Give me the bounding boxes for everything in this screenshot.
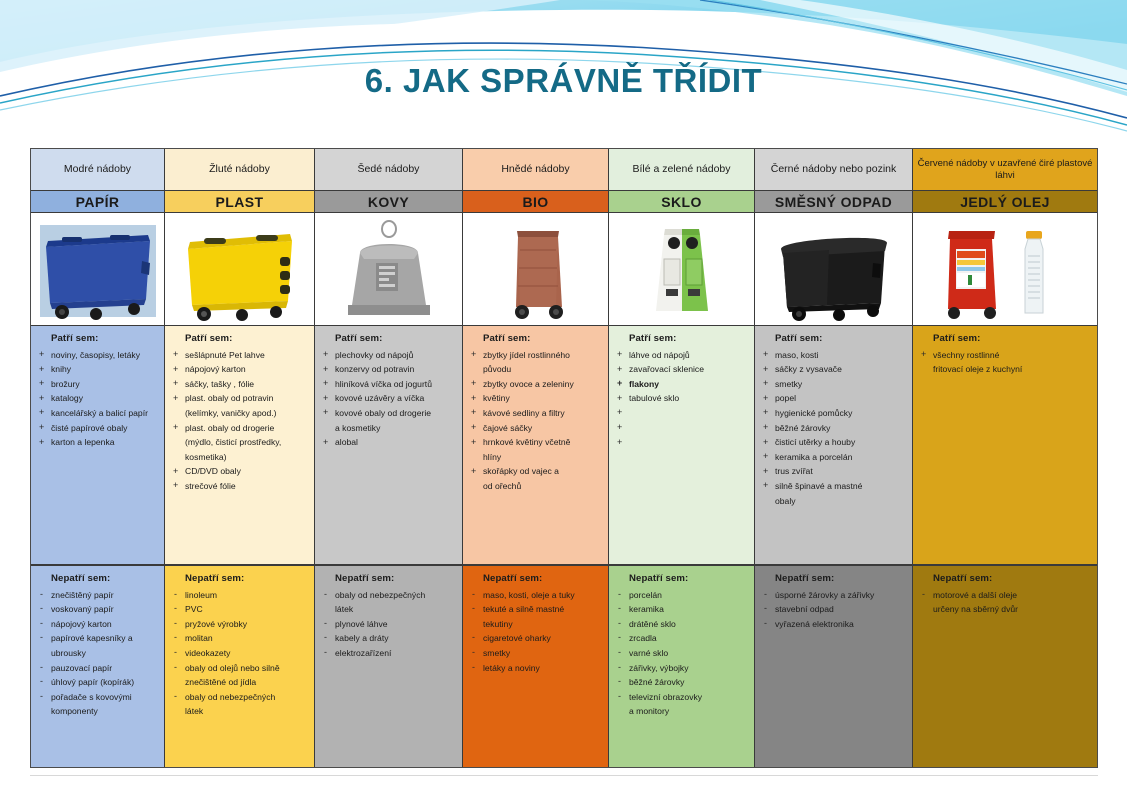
list-item: katalogy [37, 391, 158, 406]
list-item: vyřazená elektronika [761, 617, 906, 632]
list-item: plynové láhve [321, 617, 456, 632]
list-item: kabely a dráty [321, 631, 456, 646]
list-item: pořadače s kovovými komponenty [37, 690, 158, 719]
list-item: sáčky z vysavače [761, 362, 906, 377]
belongs-items-jedly-olej: všechny rostlinné fritovací oleje z kuch… [919, 348, 1091, 377]
list-item: zářivky, výbojky [615, 661, 748, 676]
image-cell-kovy [315, 213, 462, 326]
belongs-heading-smesny-odpad: Patří sem: [761, 332, 906, 347]
list-item: sešlápnuté Pet lahve [171, 348, 308, 363]
not-belongs-list-bio: Nepatří sem: maso, kosti, oleje a tuky t… [463, 566, 608, 767]
list-item: trus zvířat [761, 464, 906, 479]
not-belongs-heading-sklo: Nepatří sem: [615, 572, 748, 587]
slide-banner: 6. JAK SPRÁVNĚ TŘÍDIT [0, 0, 1127, 132]
list-item: láhve od nápojů [615, 348, 748, 363]
page-title: 6. JAK SPRÁVNĚ TŘÍDIT [0, 62, 1127, 100]
list-item: brožury [37, 377, 158, 392]
list-item: běžné žárovky [615, 675, 748, 690]
list-item: alobal [321, 435, 456, 450]
not-belongs-items-kovy: obaly od nebezpečných látek plynové láhv… [321, 588, 456, 661]
belongs-list-kovy: Patří sem: plechovky od nápojů konzervy … [315, 326, 462, 566]
belongs-heading-sklo: Patří sem: [615, 332, 748, 347]
not-belongs-list-jedly-olej: Nepatří sem: motorové a další oleje urče… [913, 566, 1097, 767]
not-belongs-items-sklo: porcelán keramika drátěné sklo zrcadla v… [615, 588, 748, 719]
brown-bio-container-icon [496, 219, 576, 323]
category-papir: PAPÍR [31, 191, 164, 213]
list-item: papírové kapesníky a ubrousky [37, 631, 158, 660]
list-item: čisté papírové obaly [37, 421, 158, 436]
belongs-heading-papir: Patří sem: [37, 332, 158, 347]
belongs-items-kovy: plechovky od nápojů konzervy od potravin… [321, 348, 456, 450]
list-item: silně špinavé a mastné obaly [761, 479, 906, 508]
list-item: noviny, časopisy, letáky [37, 348, 158, 363]
belongs-heading-plast: Patří sem: [171, 332, 308, 347]
list-item: voskovaný papír [37, 602, 158, 617]
list-item: linoleum [171, 588, 308, 603]
list-item: porcelán [615, 588, 748, 603]
not-belongs-heading-bio: Nepatří sem: [469, 572, 602, 587]
list-item: úhlový papír (kopírák) [37, 675, 158, 690]
not-belongs-items-papir: znečištěný papír voskovaný papír nápojov… [37, 588, 158, 719]
not-belongs-heading-smesny-odpad: Nepatří sem: [761, 572, 906, 587]
list-item: čajové sáčky [469, 421, 602, 436]
bin-name-plast: Žluté nádoby [165, 149, 314, 191]
list-item: znečištěný papír [37, 588, 158, 603]
blue-paper-container-icon [38, 219, 158, 323]
list-item: obaly od olejů nebo silně znečištěné od … [171, 661, 308, 690]
list-item: keramika a porcelán [761, 450, 906, 465]
list-item: hygienické pomůcky [761, 406, 906, 421]
list-item: zbytky ovoce a zeleniny [469, 377, 602, 392]
column-smesny-odpad: Černé nádoby nebo pozink SMĚSNÝ ODPAD Pa… [755, 149, 913, 767]
list-item: obaly od nebezpečných látek [171, 690, 308, 719]
list-item: sáčky, tašky , fólie [171, 377, 308, 392]
belongs-list-bio: Patří sem: zbytky jídel rostlinného půvo… [463, 326, 608, 566]
list-item: květiny [469, 391, 602, 406]
list-item: karton a lepenka [37, 435, 158, 450]
list-item: televizní obrazovky a monitory [615, 690, 748, 719]
belongs-items-sklo: láhve od nápojů zavařovací sklenice flak… [615, 348, 748, 450]
yellow-plastic-container-icon [176, 219, 304, 323]
list-item: tabulové sklo [615, 391, 748, 406]
category-sklo: SKLO [609, 191, 754, 213]
not-belongs-list-kovy: Nepatří sem: obaly od nebezpečných látek… [315, 566, 462, 767]
category-smesny-odpad: SMĚSNÝ ODPAD [755, 191, 912, 213]
list-item: maso, kosti, oleje a tuky [469, 588, 602, 603]
grey-metal-container-icon [334, 219, 444, 323]
belongs-list-papir: Patří sem: noviny, časopisy, letáky knih… [31, 326, 164, 566]
bottom-divider [30, 775, 1098, 776]
bin-name-kovy: Šedé nádoby [315, 149, 462, 191]
not-belongs-heading-jedly-olej: Nepatří sem: [919, 572, 1091, 587]
list-item: nápojový karton [171, 362, 308, 377]
image-cell-smesny-odpad [755, 213, 912, 326]
not-belongs-list-plast: Nepatří sem: linoleum PVC pryžové výrobk… [165, 566, 314, 767]
belongs-items-papir: noviny, časopisy, letáky knihy brožury k… [37, 348, 158, 450]
column-papir: Modré nádoby PAPÍR Patří sem: noviny, ča… [31, 149, 165, 767]
not-belongs-heading-papir: Nepatří sem: [37, 572, 158, 587]
list-item: molitan [171, 631, 308, 646]
belongs-list-sklo: Patří sem: láhve od nápojů zavařovací sk… [609, 326, 754, 566]
belongs-items-smesny-odpad: maso, kosti sáčky z vysavače smetky pope… [761, 348, 906, 509]
not-belongs-items-jedly-olej: motorové a další oleje určeny na sběrný … [919, 588, 1091, 617]
list-item: plechovky od nápojů [321, 348, 456, 363]
white-green-glass-container-icon [634, 219, 730, 323]
list-item: plast. obaly od potravin (kelímky, vanič… [171, 391, 308, 420]
list-item [615, 435, 748, 450]
not-belongs-list-sklo: Nepatří sem: porcelán keramika drátěné s… [609, 566, 754, 767]
not-belongs-items-plast: linoleum PVC pryžové výrobky molitan vid… [171, 588, 308, 719]
column-bio: Hnědé nádoby BIO Patří sem: zbytky jídel… [463, 149, 609, 767]
list-item: tekuté a silně mastné tekutiny [469, 602, 602, 631]
column-kovy: Šedé nádoby KOVY Patří sem: plechovky od… [315, 149, 463, 767]
belongs-list-jedly-olej: Patří sem: všechny rostlinné fritovací o… [913, 326, 1097, 566]
list-item: maso, kosti [761, 348, 906, 363]
list-item [615, 406, 748, 421]
list-item: kávové sedliny a filtry [469, 406, 602, 421]
list-item: kovové obaly od drogerie a kosmetiky [321, 406, 456, 435]
bin-name-bio: Hnědé nádoby [463, 149, 608, 191]
category-plast: PLAST [165, 191, 314, 213]
list-item: smetky [761, 377, 906, 392]
belongs-heading-kovy: Patří sem: [321, 332, 456, 347]
belongs-list-smesny-odpad: Patří sem: maso, kosti sáčky z vysavače … [755, 326, 912, 566]
column-plast: Žluté nádoby PLAST Patří sem: sešlápnu [165, 149, 315, 767]
category-kovy: KOVY [315, 191, 462, 213]
list-item: čisticí utěrky a houby [761, 435, 906, 450]
column-sklo: Bílé a zelené nádoby SKLO Patří sem: láh… [609, 149, 755, 767]
list-item: zrcadla [615, 631, 748, 646]
image-cell-plast [165, 213, 314, 326]
list-item: hliníková víčka od jogurtů [321, 377, 456, 392]
list-item: kancelářský a balicí papír [37, 406, 158, 421]
list-item: pryžové výrobky [171, 617, 308, 632]
black-mixed-waste-container-icon [769, 219, 899, 323]
category-jedly-olej: JEDLÝ OLEJ [913, 191, 1097, 213]
list-item: úsporné žárovky a zářivky [761, 588, 906, 603]
list-item: nápojový karton [37, 617, 158, 632]
belongs-heading-jedly-olej: Patří sem: [919, 332, 1091, 347]
list-item: cigaretové oharky [469, 631, 602, 646]
belongs-heading-bio: Patří sem: [469, 332, 602, 347]
list-item: flakony [615, 377, 748, 392]
list-item: motorové a další oleje určeny na sběrný … [919, 588, 1091, 617]
not-belongs-list-smesny-odpad: Nepatří sem: úsporné žárovky a zářivky s… [755, 566, 912, 767]
bin-name-sklo: Bílé a zelené nádoby [609, 149, 754, 191]
list-item: strečové fólie [171, 479, 308, 494]
waste-sorting-table: Modré nádoby PAPÍR Patří sem: noviny, ča… [30, 148, 1098, 768]
list-item: skořápky od vajec a od ořechů [469, 464, 602, 493]
category-bio: BIO [463, 191, 608, 213]
bin-name-jedly-olej: Červené nádoby v uzavřené čiré plastové … [913, 149, 1097, 191]
belongs-list-plast: Patří sem: sešlápnuté Pet lahve nápojový… [165, 326, 314, 566]
belongs-items-bio: zbytky jídel rostlinného původu zbytky o… [469, 348, 602, 494]
list-item: plast. obaly od drogerie (mýdlo, čisticí… [171, 421, 308, 465]
red-oil-container-and-bottle-icon [930, 219, 1080, 323]
image-cell-sklo [609, 213, 754, 326]
list-item: smetky [469, 646, 602, 661]
belongs-items-plast: sešlápnuté Pet lahve nápojový karton sáč… [171, 348, 308, 494]
not-belongs-items-smesny-odpad: úsporné žárovky a zářivky stavební odpad… [761, 588, 906, 632]
list-item: běžné žárovky [761, 421, 906, 436]
list-item: zbytky jídel rostlinného původu [469, 348, 602, 377]
not-belongs-list-papir: Nepatří sem: znečištěný papír voskovaný … [31, 566, 164, 767]
list-item: pauzovací papír [37, 661, 158, 676]
list-item: hrnkové květiny včetně hlíny [469, 435, 602, 464]
not-belongs-heading-kovy: Nepatří sem: [321, 572, 456, 587]
list-item: knihy [37, 362, 158, 377]
list-item: CD/DVD obaly [171, 464, 308, 479]
image-cell-papir [31, 213, 164, 326]
list-item: stavební odpad [761, 602, 906, 617]
image-cell-jedly-olej [913, 213, 1097, 326]
list-item: PVC [171, 602, 308, 617]
list-item: popel [761, 391, 906, 406]
list-item: všechny rostlinné fritovací oleje z kuch… [919, 348, 1091, 377]
not-belongs-items-bio: maso, kosti, oleje a tuky tekuté a silně… [469, 588, 602, 676]
list-item: elektrozařízení [321, 646, 456, 661]
list-item: letáky a noviny [469, 661, 602, 676]
image-cell-bio [463, 213, 608, 326]
not-belongs-heading-plast: Nepatří sem: [171, 572, 308, 587]
list-item: videokazety [171, 646, 308, 661]
bin-name-smesny-odpad: Černé nádoby nebo pozink [755, 149, 912, 191]
list-item: kovové uzávěry a víčka [321, 391, 456, 406]
bin-name-papir: Modré nádoby [31, 149, 164, 191]
list-item: zavařovací sklenice [615, 362, 748, 377]
list-item: varné sklo [615, 646, 748, 661]
list-item: keramika [615, 602, 748, 617]
list-item: obaly od nebezpečných látek [321, 588, 456, 617]
list-item: drátěné sklo [615, 617, 748, 632]
list-item [615, 421, 748, 436]
list-item: konzervy od potravin [321, 362, 456, 377]
column-jedly-olej: Červené nádoby v uzavřené čiré plastové … [913, 149, 1097, 767]
